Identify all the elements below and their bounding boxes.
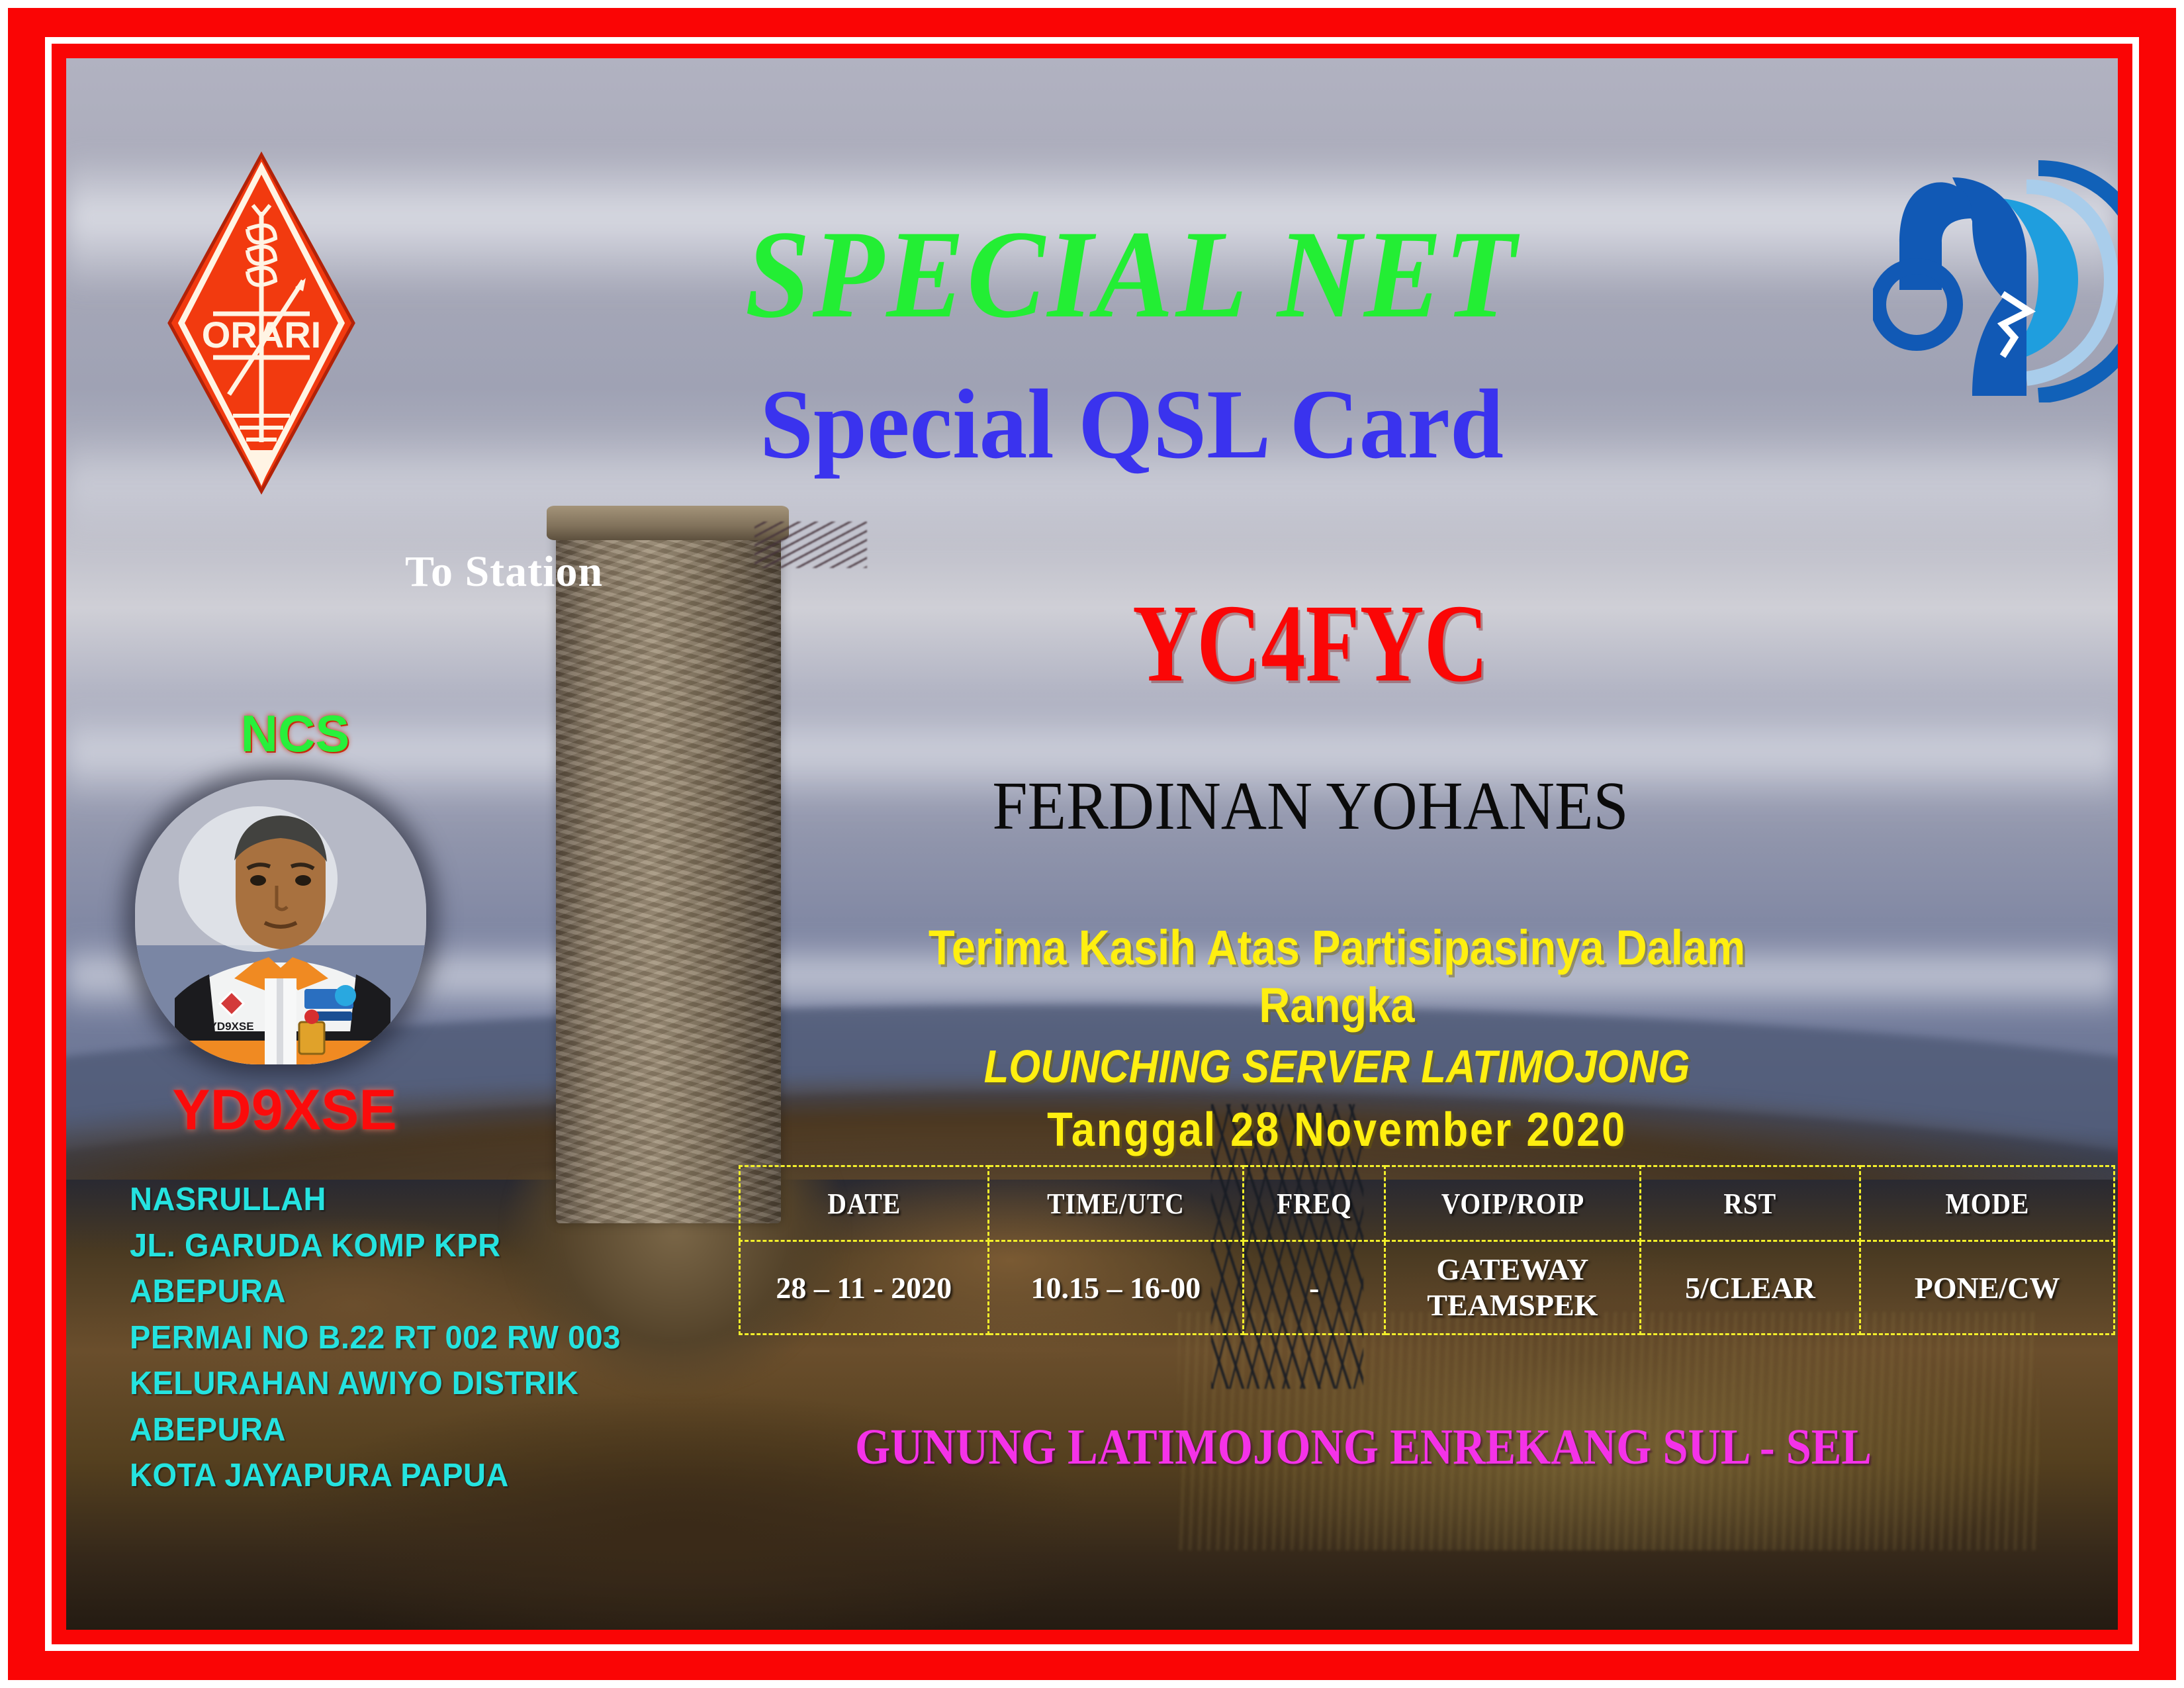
thanks-line-2: LOUNCHING SERVER LATIMOJONG: [848, 1039, 1826, 1095]
web-address: Address : amatir.latimojong.com: [1343, 1628, 2042, 1630]
outer-red-border: ORARI: [8, 8, 2176, 1680]
ncs-operator-avatar: YD9XSE: [135, 780, 426, 1064]
column-header-rst: RST: [1651, 1166, 1849, 1241]
cell-date: 28 – 11 - 2020: [740, 1241, 989, 1335]
cell-rst: 5/CLEAR: [1640, 1241, 1860, 1335]
svg-text:YD9XSE: YD9XSE: [209, 1020, 253, 1033]
thanks-message: Terima Kasih Atas Partisipasinya Dalam R…: [781, 919, 1893, 1160]
cell-voip: GATEWAY TEAMSPEK: [1385, 1241, 1641, 1335]
table-row: 28 – 11 - 2020 10.15 – 16-00 - GATEWAY T…: [740, 1241, 2115, 1335]
headset-waves-icon: [1873, 158, 2118, 402]
page-subtitle-qsl-card: Special QSL Card: [547, 375, 1715, 474]
background-photograph: ORARI: [66, 58, 2118, 1630]
inner-red-border: ORARI: [52, 44, 2132, 1644]
column-header-freq: FREQ: [1250, 1166, 1377, 1241]
cell-voip-line-1: GATEWAY: [1387, 1252, 1639, 1288]
column-header-voip: VOIP/ROIP: [1398, 1166, 1627, 1241]
column-header-date: DATE: [752, 1166, 976, 1241]
orari-logo: ORARI: [165, 151, 357, 495]
address-line: ABEPURA: [130, 1269, 676, 1315]
ncs-label: NCS: [196, 704, 394, 764]
portrait-photo-icon: YD9XSE: [135, 780, 426, 1064]
pillar-cap: [547, 506, 789, 540]
cell-freq: -: [1244, 1241, 1385, 1335]
address-line: KELURAHAN AWIYO DISTRIK: [130, 1361, 676, 1407]
column-header-mode: MODE: [1873, 1166, 2101, 1241]
postal-address-block: NASRULLAH JL. GARUDA KOMP KPR ABEPURA PE…: [130, 1177, 676, 1499]
location-caption: GUNUNG LATIMOJONG ENREKANG SUL - SEL: [780, 1419, 1947, 1476]
address-line: ABEPURA: [130, 1407, 676, 1454]
cell-time: 10.15 – 16-00: [988, 1241, 1244, 1335]
stone-pillar-monument: [556, 522, 781, 1223]
column-header-time: TIME/UTC: [1001, 1166, 1230, 1241]
white-border-gap: ORARI: [45, 37, 2139, 1651]
address-line: KOTA JAYAPURA PAPUA: [130, 1453, 676, 1499]
qsl-card: ORARI: [0, 0, 2184, 1688]
cell-voip-line-2: TEAMSPEK: [1387, 1288, 1639, 1323]
twig: [754, 522, 867, 568]
address-line: PERMAI NO B.22 RT 002 RW 003: [130, 1315, 676, 1362]
station-callsign: YC4FYC: [1024, 588, 1596, 699]
thanks-line-1: Terima Kasih Atas Partisipasinya Dalam R…: [848, 919, 1826, 1035]
thanks-line-3: Tanggal 28 November 2020: [848, 1102, 1826, 1160]
to-station-label: To Station: [405, 547, 603, 597]
orari-diamond-icon: ORARI: [165, 151, 357, 495]
operator-name: FERDINAN YOHANES: [884, 772, 1737, 841]
ncs-callsign: YD9XSE: [146, 1078, 424, 1143]
headset-logo: [1873, 158, 2118, 402]
orari-logo-text: ORARI: [202, 314, 321, 355]
address-line: NASRULLAH: [130, 1177, 676, 1223]
address-line: JL. GARUDA KOMP KPR: [130, 1223, 676, 1270]
table-header-row: DATE TIME/UTC FREQ VOIP/ROIP RST MODE: [740, 1166, 2115, 1241]
cell-mode: PONE/CW: [1860, 1241, 2115, 1335]
page-title-special-net: SPECIAL NET: [572, 212, 1692, 338]
qso-log-table: DATE TIME/UTC FREQ VOIP/ROIP RST MODE 28…: [739, 1165, 2115, 1335]
